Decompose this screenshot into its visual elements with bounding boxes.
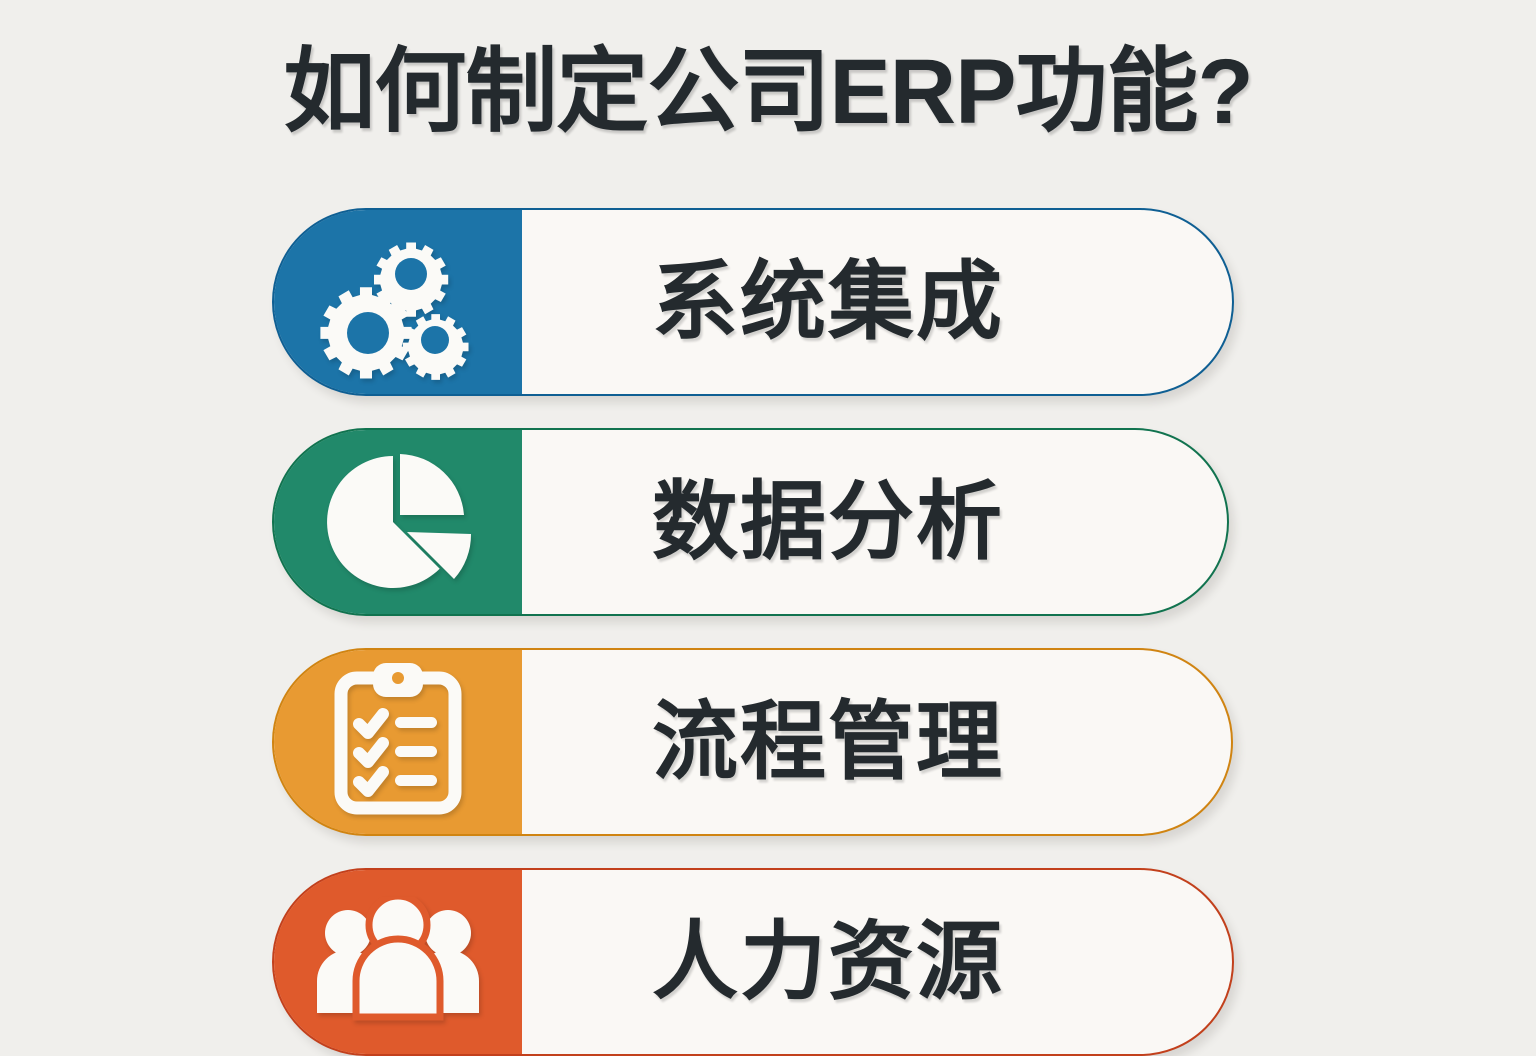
clipboard-checklist-icon (323, 662, 473, 822)
icon-panel-system-integration (274, 210, 522, 394)
feature-label-system-integration: 系统集成 (522, 259, 1232, 345)
feature-label-process-management: 流程管理 (522, 699, 1231, 785)
infographic-page: 如何制定公司ERP功能? (0, 0, 1536, 1024)
feature-row-process-management[interactable]: 流程管理 (272, 648, 1233, 836)
icon-panel-data-analysis (274, 430, 522, 614)
feature-row-human-resources[interactable]: 人力资源 (272, 868, 1234, 1056)
feature-list: 系统集成 数据分析 (0, 0, 1536, 1024)
feature-row-data-analysis[interactable]: 数据分析 (272, 428, 1229, 616)
feature-row-system-integration[interactable]: 系统集成 (272, 208, 1234, 396)
gears-icon (313, 222, 483, 382)
feature-label-data-analysis: 数据分析 (522, 479, 1227, 565)
pie-chart-icon (313, 442, 483, 602)
feature-label-human-resources: 人力资源 (522, 919, 1232, 1005)
icon-panel-process-management (274, 650, 522, 834)
people-group-icon (308, 897, 488, 1027)
icon-panel-human-resources (274, 870, 522, 1054)
